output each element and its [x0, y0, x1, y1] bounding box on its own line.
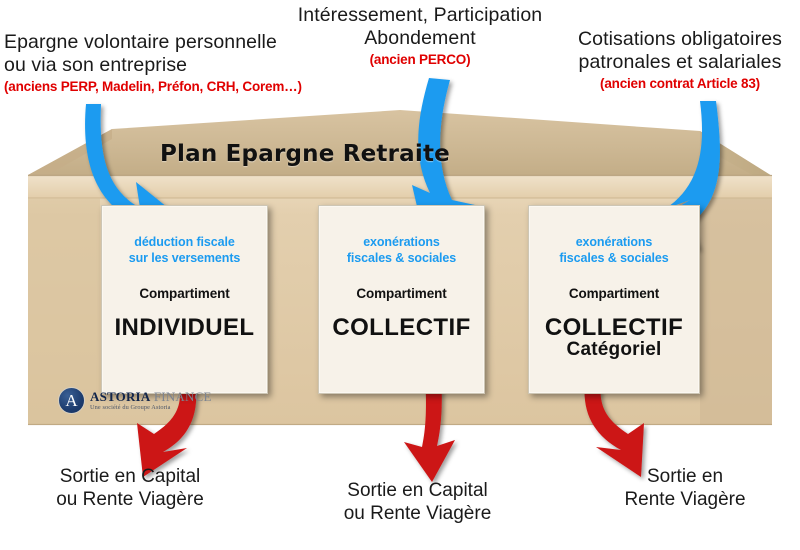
- compartment-title-line-1: COLLECTIF: [332, 314, 470, 341]
- logo-brand-bold: ASTORIA: [90, 389, 150, 404]
- compartment-individual[interactable]: déduction fiscale sur les versements Com…: [101, 205, 268, 394]
- output-label-individual: Sortie en Capital ou Rente Viagère: [0, 466, 260, 512]
- logo-wordmark: ASTORIA FINANCE Une société du Groupe As…: [90, 390, 212, 411]
- output-line-2: Rente Viagère: [570, 489, 800, 512]
- output-line-2: ou Rente Viagère: [285, 503, 550, 526]
- caption-line-2: ou via son entreprise: [4, 54, 304, 77]
- compartment-collective[interactable]: exonérations fiscales & sociales Compart…: [318, 205, 485, 394]
- astoria-monogram-icon: A: [58, 387, 85, 414]
- compartment-advantage: déduction fiscale sur les versements: [102, 234, 267, 266]
- compartment-title: INDIVIDUEL: [102, 315, 267, 340]
- advantage-line-2: sur les versements: [102, 250, 267, 266]
- astoria-finance-logo: A ASTORIA FINANCE Une société du Groupe …: [58, 387, 212, 414]
- compartment-collective-categorical[interactable]: exonérations fiscales & sociales Compart…: [528, 205, 700, 394]
- diagram-canvas: Epargne volontaire personnelle ou via so…: [0, 0, 800, 550]
- advantage-line-2: fiscales & sociales: [529, 250, 699, 266]
- logo-brand-name: ASTORIA FINANCE: [90, 390, 212, 403]
- caption-legacy-products: (anciens PERP, Madelin, Préfon, CRH, Cor…: [4, 79, 304, 95]
- output-line-1: Sortie en Capital: [0, 466, 260, 489]
- output-line-1: Sortie en Capital: [285, 480, 550, 503]
- advantage-line-1: exonérations: [319, 234, 484, 250]
- compartment-title-line-1: INDIVIDUEL: [114, 314, 254, 341]
- advantage-line-1: exonérations: [529, 234, 699, 250]
- compartment-kind-label: Compartiment: [102, 286, 267, 301]
- output-line-1: Sortie en: [570, 466, 800, 489]
- input-caption-profit-sharing: Intéressement, Participation Abondement …: [280, 4, 560, 68]
- advantage-line-1: déduction fiscale: [102, 234, 267, 250]
- compartment-advantage: exonérations fiscales & sociales: [529, 234, 699, 266]
- logo-tagline: Une société du Groupe Astoria: [90, 405, 212, 411]
- compartment-kind-label: Compartiment: [529, 286, 699, 301]
- output-label-collective-categorical: Sortie en Rente Viagère: [570, 466, 800, 512]
- caption-line-1: Epargne volontaire personnelle: [4, 31, 304, 54]
- caption-legacy-products: (ancien contrat Article 83): [560, 76, 800, 92]
- caption-line-1: Intéressement, Participation: [280, 4, 560, 27]
- compartment-advantage: exonérations fiscales & sociales: [319, 234, 484, 266]
- house-title: Plan Epargne Retraite: [160, 141, 450, 167]
- caption-line-1: Cotisations obligatoires: [560, 28, 800, 51]
- input-caption-mandatory-contributions: Cotisations obligatoires patronales et s…: [560, 28, 800, 92]
- compartment-title: COLLECTIF Catégoriel: [529, 315, 699, 361]
- compartment-title-line-1: COLLECTIF: [545, 314, 683, 341]
- caption-line-2: Abondement: [280, 27, 560, 50]
- input-caption-personal-savings: Epargne volontaire personnelle ou via so…: [4, 31, 304, 95]
- output-line-2: ou Rente Viagère: [0, 489, 260, 512]
- caption-line-2: patronales et salariales: [560, 51, 800, 74]
- logo-brand-light: FINANCE: [154, 389, 212, 404]
- compartment-title: COLLECTIF: [319, 315, 484, 340]
- caption-legacy-products: (ancien PERCO): [280, 52, 560, 68]
- compartment-title-line-2: Catégoriel: [529, 340, 699, 360]
- compartment-kind-label: Compartiment: [319, 286, 484, 301]
- advantage-line-2: fiscales & sociales: [319, 250, 484, 266]
- output-label-collective: Sortie en Capital ou Rente Viagère: [285, 480, 550, 526]
